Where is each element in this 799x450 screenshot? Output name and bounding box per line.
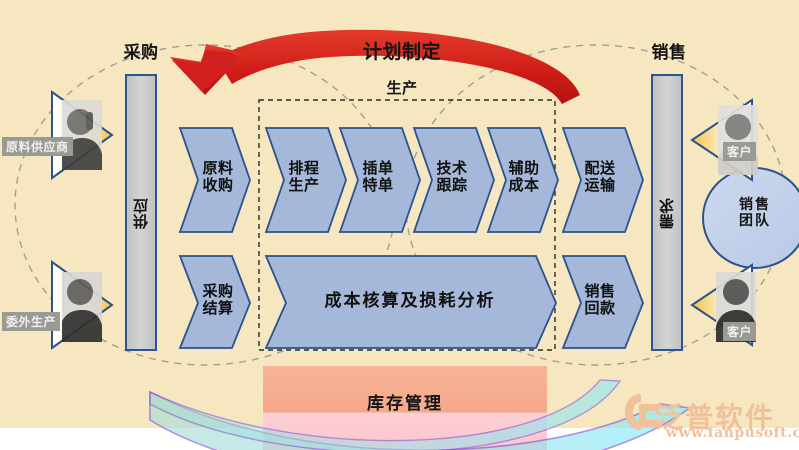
supply-bar-label: 供应: [133, 198, 150, 229]
watermark-url: www.fanpusoft.com: [666, 425, 799, 441]
chevron-label-auxiliary-cost[interactable]: 辅助 成本: [496, 160, 552, 194]
actor-tag-outsourced-production[interactable]: 委外生产: [2, 312, 60, 331]
title-production: 生产: [342, 80, 462, 97]
demand-bar-label: 需求: [659, 198, 676, 229]
demand-bar-label-wrap: 需求: [652, 180, 682, 246]
chevron-label-raw-material-purchase[interactable]: 原料 收购: [190, 160, 246, 194]
chevron-label-technical-tracking[interactable]: 技术 跟踪: [424, 160, 480, 194]
actor-tag-customer-top[interactable]: 客户: [723, 142, 756, 161]
chevron-label-cost-accounting[interactable]: 成本核算及损耗分析: [290, 292, 530, 311]
supply-bar-label-wrap: 供应: [126, 180, 156, 246]
section-title-procurement: 采购: [106, 44, 176, 63]
chevron-label-schedule-production[interactable]: 排程 生产: [276, 160, 332, 194]
title-plan-making: 计划制定: [322, 42, 482, 63]
actor-tag-raw-material-supplier[interactable]: 原料供应商: [2, 137, 73, 156]
actor-tag-customer-bottom[interactable]: 客户: [723, 322, 756, 341]
section-title-sales: 销售: [634, 44, 704, 63]
inventory-label: 库存管理: [330, 395, 480, 414]
chevron-label-delivery-transport[interactable]: 配送 运输: [572, 160, 628, 194]
chevron-label-insert-order[interactable]: 插单 特单: [350, 160, 406, 194]
chevron-label-purchase-settlement[interactable]: 采购 结算: [190, 283, 246, 317]
supply-chain-diagram: 采购 销售 计划制定 生产 供应 需求 原料 收购 排程 生产 插单 特单 技术…: [0, 0, 799, 450]
chevron-label-sales-collection[interactable]: 销售 回款: [572, 283, 628, 317]
sales-team-label: 销售 团队: [715, 198, 795, 229]
